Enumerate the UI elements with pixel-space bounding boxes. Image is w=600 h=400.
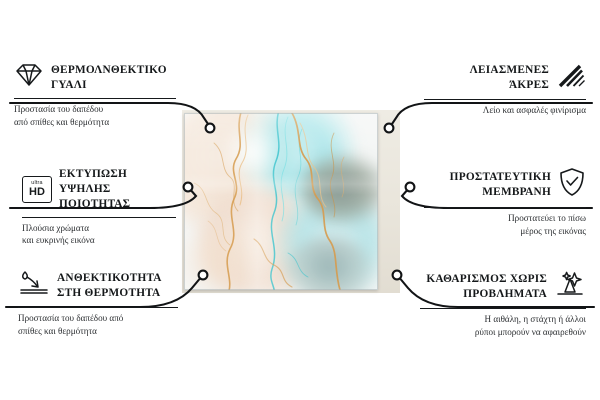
feature-header: ΚΑΘΑΡΙΣΜΟΣ ΧΩΡΙΣ ΠΡΟΒΛΗΜΑΤΑ bbox=[420, 270, 586, 303]
infographic-canvas: ΘΕΡΜΟΛΝΘΕΚΤΙΚΟ ΓΥΑΛΙ Προστασία του δαπέδ… bbox=[0, 0, 600, 400]
divider bbox=[14, 98, 176, 99]
feature-title: ΘΕΡΜΟΛΝΘΕΚΤΙΚΟ ΓΥΑΛΙ bbox=[51, 63, 167, 93]
desc-line-2: από σπίθες και θερμότητα bbox=[14, 116, 176, 129]
feature-title: ΛΕΙΑΣΜΕΝΕΣ ΆΚΡΕΣ bbox=[470, 63, 549, 93]
feature-header: ΠΡΟΣΤΑΤΕΥΤΙΚΗ ΜΕΜΒΡΑΝΗ bbox=[424, 167, 586, 202]
feature-polished-edges: ΛΕΙΑΣΜΕΝΕΣ ΆΚΡΕΣ Λείο και ασφαλές φινίρι… bbox=[424, 62, 586, 117]
divider bbox=[420, 308, 586, 309]
connector-dot bbox=[406, 183, 415, 192]
title-line-1: ΛΕΙΑΣΜΕΝΕΣ bbox=[470, 63, 549, 78]
diamond-icon bbox=[14, 62, 44, 93]
title-line-2: ΜΕΜΒΡΑΝΗ bbox=[450, 185, 551, 200]
title-line-2: ΠΡΟΒΛΗΜΑΤΑ bbox=[426, 287, 547, 302]
feature-header: ΛΕΙΑΣΜΕΝΕΣ ΆΚΡΕΣ bbox=[424, 62, 586, 94]
feature-description: Λείο και ασφαλές φινίρισμα bbox=[424, 104, 586, 117]
title-line-1: ΚΑΘΑΡΙΣΜΟΣ ΧΩΡΙΣ bbox=[426, 272, 547, 287]
desc-line-2: και ευκρινής εικόνα bbox=[22, 234, 176, 247]
feature-title: ΚΑΘΑΡΙΣΜΟΣ ΧΩΡΙΣ ΠΡΟΒΛΗΜΑΤΑ bbox=[426, 272, 547, 302]
feature-heat-durability: ΑΝΘΕΚΤΙΚΟΤΗΤΑ ΣΤΗ ΘΕΡΜΟΤΗΤΑ Προστασία το… bbox=[18, 269, 178, 337]
title-line-2: ΓΥΑΛΙ bbox=[51, 78, 167, 93]
feature-header: ΑΝΘΕΚΤΙΚΟΤΗΤΑ ΣΤΗ ΘΕΡΜΟΤΗΤΑ bbox=[18, 269, 178, 302]
polished-edges-icon bbox=[556, 62, 586, 94]
product-image bbox=[184, 113, 378, 290]
heat-resistance-icon bbox=[18, 269, 50, 302]
feature-title: ΠΡΟΣΤΑΤΕΥΤΙΚΗ ΜΕΜΒΡΑΝΗ bbox=[450, 170, 551, 200]
title-line-2: ΆΚΡΕΣ bbox=[470, 78, 549, 93]
desc-line-1: Η αιθάλη, η στάχτη ή άλλοι bbox=[420, 313, 586, 326]
feature-easy-cleaning: ΚΑΘΑΡΙΣΜΟΣ ΧΩΡΙΣ ΠΡΟΒΛΗΜΑΤΑ Η αιθάλη, η … bbox=[420, 270, 586, 338]
feature-high-quality-print: ultra HD ΕΚΤΥΠΩΣΗ ΥΨΗΛΗΣ ΠΟΙΟΤΗΤΑΣ Πλούσ… bbox=[22, 167, 176, 247]
feature-header: ΘΕΡΜΟΛΝΘΕΚΤΙΚΟ ΓΥΑΛΙ bbox=[14, 62, 176, 93]
title-line-1: ΠΡΟΣΤΑΤΕΥΤΙΚΗ bbox=[450, 170, 551, 185]
ink-veins bbox=[184, 113, 378, 290]
feature-heat-resistant-glass: ΘΕΡΜΟΛΝΘΕΚΤΙΚΟ ΓΥΑΛΙ Προστασία του δαπέδ… bbox=[14, 62, 176, 128]
feature-description: Προστασία του δαπέδου από σπίθες και θερ… bbox=[14, 103, 176, 128]
title-line-1: ΘΕΡΜΟΛΝΘΕΚΤΙΚΟ bbox=[51, 63, 167, 78]
desc-line-1: Προστατεύει το πίσω bbox=[424, 212, 586, 225]
glass-artwork bbox=[184, 113, 378, 290]
badge-hd-label: HD bbox=[29, 187, 45, 198]
desc-line-2: σπίθες και θερμότητα bbox=[18, 325, 178, 338]
divider bbox=[18, 307, 178, 308]
feature-title: ΑΝΘΕΚΤΙΚΟΤΗΤΑ ΣΤΗ ΘΕΡΜΟΤΗΤΑ bbox=[57, 271, 162, 301]
ultra-hd-icon: ultra HD bbox=[22, 176, 52, 203]
desc-line-2: μέρος της εικόνας bbox=[424, 225, 586, 238]
easy-clean-icon bbox=[554, 270, 586, 303]
shield-check-icon bbox=[558, 167, 586, 202]
feature-description: Προστατεύει το πίσω μέρος της εικόνας bbox=[424, 212, 586, 237]
desc-line-1: Προστασία του δαπέδου από bbox=[18, 312, 178, 325]
title-line-1: ΕΚΤΥΠΩΣΗ ΥΨΗΛΗΣ bbox=[59, 167, 176, 197]
desc-line-1: Λείο και ασφαλές φινίρισμα bbox=[424, 104, 586, 117]
desc-line-2: ρύποι μπορούν να αφαιρεθούν bbox=[420, 326, 586, 339]
title-line-2: ΣΤΗ ΘΕΡΜΟΤΗΤΑ bbox=[57, 286, 162, 301]
divider bbox=[424, 99, 586, 100]
feature-header: ultra HD ΕΚΤΥΠΩΣΗ ΥΨΗΛΗΣ ΠΟΙΟΤΗΤΑΣ bbox=[22, 167, 176, 212]
title-line-2: ΠΟΙΟΤΗΤΑΣ bbox=[59, 197, 176, 212]
feature-protective-membrane: ΠΡΟΣΤΑΤΕΥΤΙΚΗ ΜΕΜΒΡΑΝΗ Προστατεύει το πί… bbox=[424, 167, 586, 237]
title-line-1: ΑΝΘΕΚΤΙΚΟΤΗΤΑ bbox=[57, 271, 162, 286]
desc-line-1: Προστασία του δαπέδου bbox=[14, 103, 176, 116]
feature-title: ΕΚΤΥΠΩΣΗ ΥΨΗΛΗΣ ΠΟΙΟΤΗΤΑΣ bbox=[59, 167, 176, 212]
feature-description: Πλούσια χρώματα και ευκρινής εικόνα bbox=[22, 222, 176, 247]
divider bbox=[424, 207, 586, 208]
feature-description: Προστασία του δαπέδου από σπίθες και θερ… bbox=[18, 312, 178, 337]
feature-description: Η αιθάλη, η στάχτη ή άλλοι ρύποι μπορούν… bbox=[420, 313, 586, 338]
divider bbox=[22, 217, 176, 218]
desc-line-1: Πλούσια χρώματα bbox=[22, 222, 176, 235]
